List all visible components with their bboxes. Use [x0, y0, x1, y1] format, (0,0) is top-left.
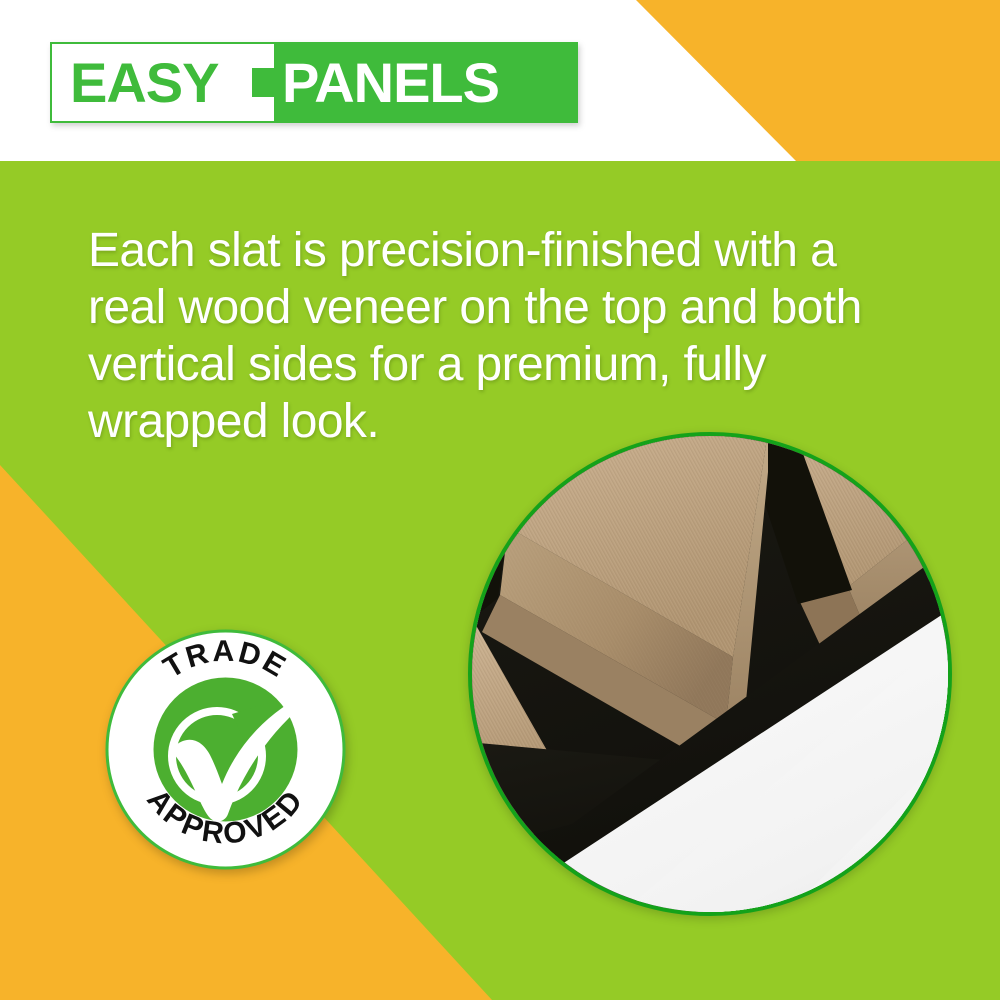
- logo-word-easy: EASY: [70, 42, 219, 123]
- trade-approved-badge: TRADE APPROVED: [104, 628, 347, 871]
- trade-approved-seal-icon: TRADE APPROVED: [104, 628, 347, 871]
- brand-logo[interactable]: EASY PANELS: [50, 42, 578, 123]
- slat-panel-illustration: [468, 432, 952, 916]
- poster-canvas: EASY PANELS Each slat is precision-finis…: [0, 0, 1000, 1000]
- logo-notch-shape: [252, 68, 278, 97]
- headline-text: Each slat is precision-finished with a r…: [88, 222, 928, 450]
- logo-word-panels: PANELS: [282, 42, 499, 123]
- product-photo-circle: [468, 432, 952, 916]
- product-photo-image: [468, 432, 952, 916]
